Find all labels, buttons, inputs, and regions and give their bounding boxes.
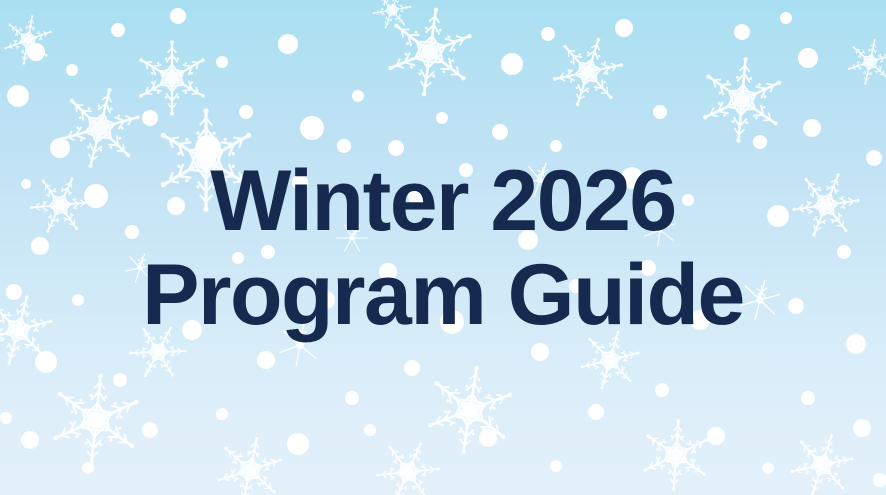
snow-dot-icon [388, 140, 404, 156]
snow-dot-icon [436, 112, 448, 124]
snow-dot-icon [50, 138, 70, 158]
snow-dot-icon [287, 433, 309, 455]
snow-dot-icon [278, 34, 298, 54]
snow-dot-icon [113, 373, 127, 387]
snow-dot-icon [853, 419, 871, 437]
snow-dot-icon [653, 105, 667, 119]
snow-dot-icon [345, 391, 359, 405]
snow-dot-icon [492, 124, 508, 140]
snow-dot-icon [142, 110, 158, 126]
snow-dot-icon [31, 237, 49, 255]
snow-dot-group [0, 8, 886, 487]
snow-dot-icon [837, 245, 851, 259]
snow-dot-icon [111, 23, 125, 37]
snow-dot-icon [7, 85, 29, 107]
snow-dot-icon [35, 351, 57, 373]
snow-dot-icon [232, 252, 244, 264]
snowflake-icon [782, 425, 861, 495]
snowflake-icon [737, 275, 783, 324]
snow-dot-icon [846, 334, 866, 354]
snow-dot-icon [216, 56, 228, 68]
snow-dot-icon [734, 24, 750, 40]
snow-dot-icon [408, 186, 428, 206]
snow-dot-icon [531, 343, 549, 361]
snowflake-icon [544, 27, 632, 117]
snowflake-icon [46, 369, 146, 471]
snow-dot-icon [788, 298, 804, 314]
snow-dot-icon [300, 116, 324, 140]
snow-dot-icon [550, 460, 562, 472]
snowflake-icon [519, 157, 562, 202]
snow-dot-icon [501, 53, 523, 75]
snow-dot-icon [404, 360, 420, 376]
snow-dot-icon [27, 43, 45, 61]
snowflake-icon [783, 161, 870, 249]
snowflake-icon [573, 323, 647, 398]
snow-dot-icon [182, 320, 202, 340]
snow-dot-icon [640, 260, 656, 276]
snow-dot-icon [82, 462, 94, 474]
snow-dot-icon [170, 8, 186, 24]
snow-dot-icon [72, 294, 84, 306]
snow-dot-icon [440, 310, 464, 334]
snowflake-icon [51, 78, 148, 177]
snow-dot-icon [142, 422, 158, 438]
snow-dot-icon [257, 351, 275, 369]
snow-dot-icon [66, 64, 78, 76]
snow-dot-icon [459, 163, 473, 177]
snow-dot-icon [707, 427, 725, 445]
snow-dot-icon [6, 284, 22, 300]
snow-dot-icon [550, 140, 562, 152]
snow-dot-icon [352, 90, 364, 102]
snow-dot-icon [767, 205, 789, 227]
snow-dot-icon [167, 197, 185, 215]
snowflake-icon [843, 35, 886, 90]
snow-dot-icon [753, 135, 767, 149]
snowflake-icon [332, 218, 371, 259]
snowflake-icon [381, 2, 479, 103]
snow-dot-icon [337, 139, 351, 153]
snow-dot-icon [364, 424, 376, 436]
snow-dot-icon [379, 263, 397, 281]
snow-dot-icon [588, 404, 604, 420]
snowflake-group [0, 0, 886, 495]
snowflake-icon [136, 40, 209, 115]
snow-dot-icon [803, 119, 821, 137]
snow-dot-icon [541, 27, 555, 41]
snowflake-icon [420, 359, 520, 461]
snow-dot-icon [292, 174, 308, 190]
snowflake-icon [122, 249, 158, 287]
snow-dot-icon [21, 179, 31, 189]
snow-dot-icon [873, 473, 886, 487]
snow-dot-icon [569, 279, 583, 293]
winter-program-guide-banner: Winter 2026 Program Guide [0, 0, 886, 495]
snow-dot-icon [801, 391, 815, 405]
snowflake-icon [639, 417, 713, 493]
snowflake-icon [20, 165, 99, 245]
snow-dot-icon [798, 48, 818, 68]
snow-dot-icon [518, 230, 538, 250]
snow-dot-icon [762, 462, 774, 474]
snowflake-icon [643, 211, 677, 249]
snow-dot-icon [125, 225, 139, 239]
snow-dot-icon [239, 105, 253, 119]
snowfall-decoration-layer [0, 0, 886, 495]
snow-dot-icon [84, 184, 108, 208]
snow-dot-icon [261, 245, 275, 259]
snow-dot-icon [780, 12, 792, 24]
snow-dot-icon [615, 19, 633, 37]
snow-dot-icon [621, 167, 643, 189]
snow-dot-icon [682, 194, 694, 206]
snowflake-icon [697, 54, 788, 147]
snow-dot-icon [655, 383, 669, 397]
snow-dot-icon [479, 429, 497, 447]
snow-dot-icon [317, 291, 335, 309]
snowflake-icon [211, 430, 290, 495]
snow-dot-icon [866, 150, 882, 166]
snow-dot-icon [216, 408, 228, 420]
snow-dot-icon [690, 310, 710, 330]
snowflake-icon [366, 430, 449, 495]
snowflake-icon [0, 11, 56, 69]
snow-dot-icon [0, 412, 12, 424]
snowflake-icon [277, 320, 323, 370]
snow-dot-icon [21, 431, 39, 449]
snow-dot-icon [195, 135, 221, 161]
